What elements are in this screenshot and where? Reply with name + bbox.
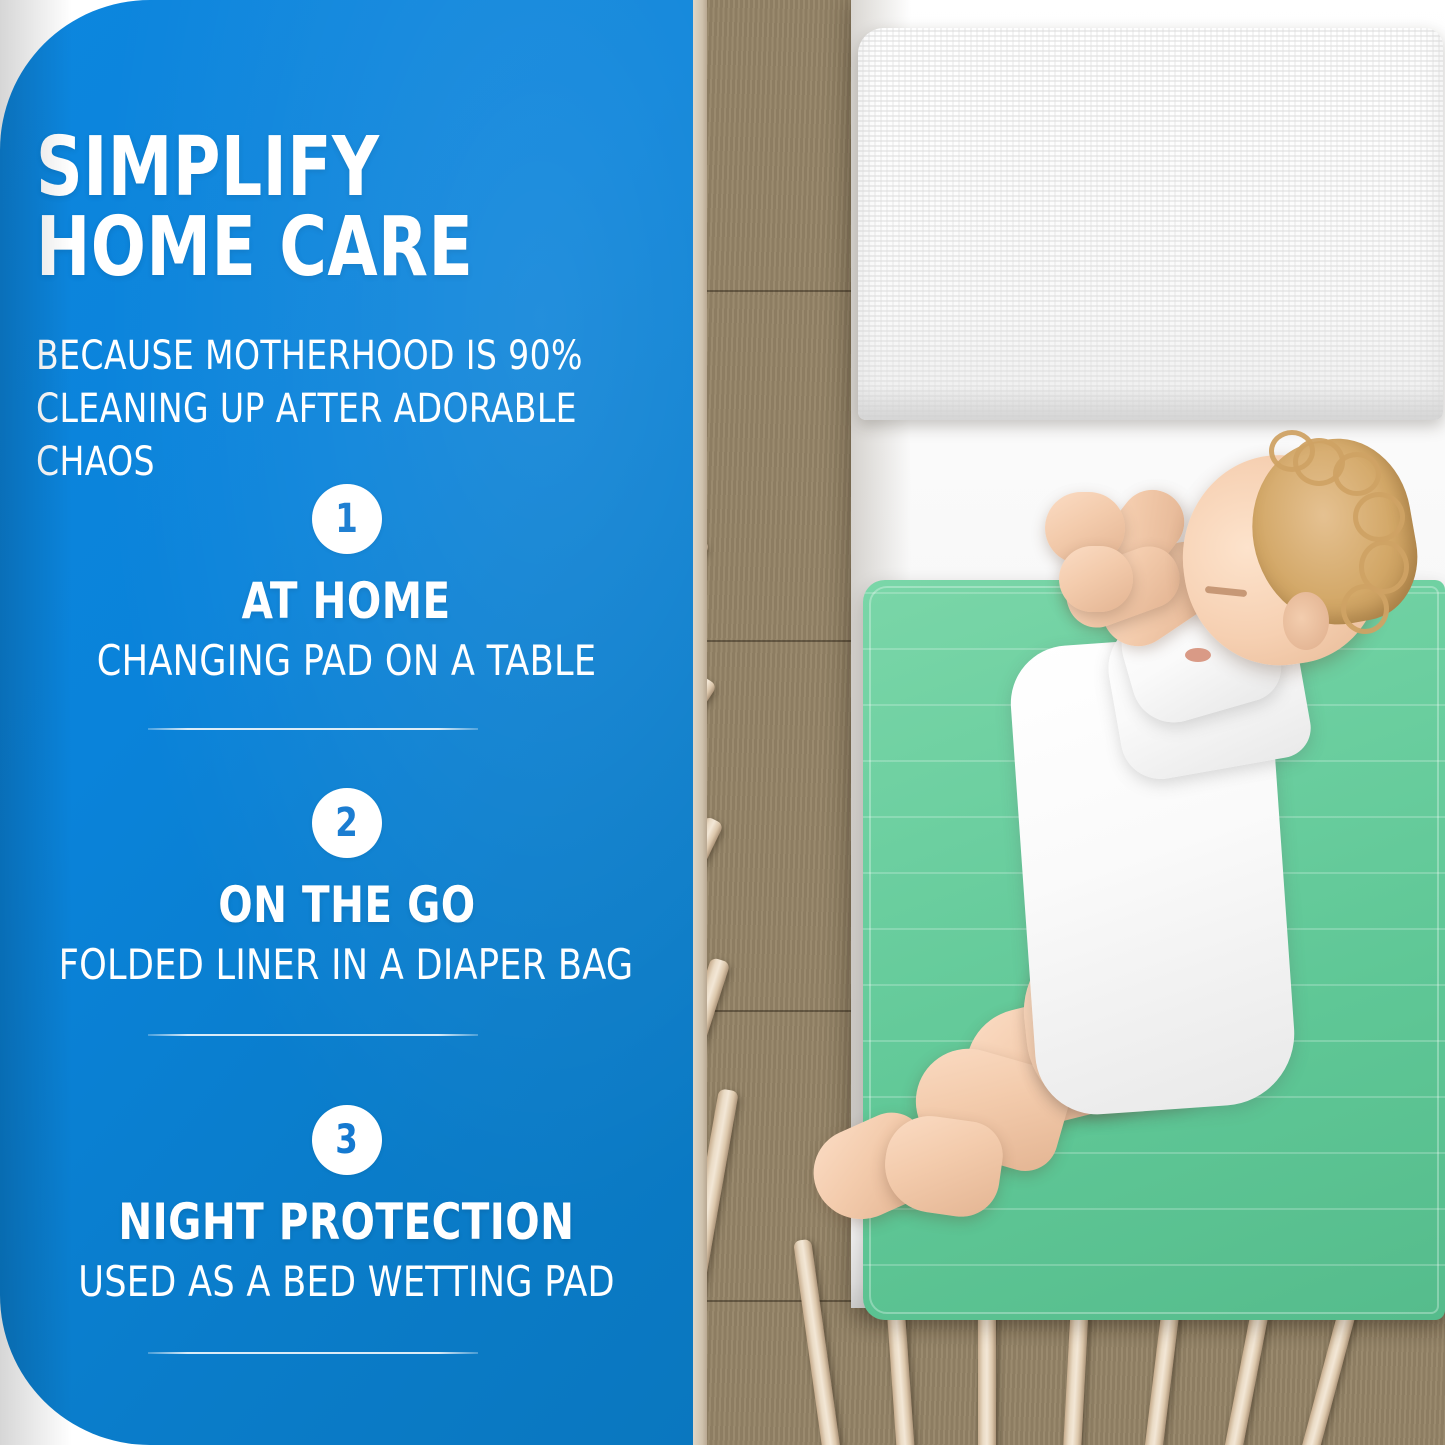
step-title-text-1: AT HOME (242, 576, 451, 626)
step-number-2: 2 (335, 803, 358, 843)
step-subtitle-text-3: USED AS A BED WETTING PAD (78, 1259, 615, 1305)
info-panel: SIMPLIFY HOME CARE BECAUSE MOTHERHOOD IS… (0, 0, 693, 1445)
step-divider-3 (148, 1352, 478, 1354)
product-photo (693, 0, 1445, 1445)
step-number-badge-2: 2 (312, 788, 382, 858)
step-subtitle-1: CHANGING PAD ON A TABLE (0, 638, 693, 684)
step-item-2: 2 ON THE GO FOLDED LINER IN A DIAPER BAG (0, 788, 693, 988)
step-title-1: AT HOME (0, 576, 693, 626)
step-divider-2 (148, 1034, 478, 1036)
photo-left-edge (693, 0, 707, 1445)
page-title: SIMPLIFY HOME CARE (36, 128, 564, 287)
step-title-text-2: ON THE GO (218, 880, 475, 930)
step-item-3: 3 NIGHT PROTECTION USED AS A BED WETTING… (0, 1105, 693, 1305)
step-divider-1 (148, 728, 478, 730)
step-title-text-3: NIGHT PROTECTION (118, 1197, 574, 1247)
step-number-1: 1 (335, 499, 358, 539)
step-subtitle-2: FOLDED LINER IN A DIAPER BAG (0, 942, 693, 988)
baby-mouth (1185, 648, 1211, 662)
step-subtitle-text-1: CHANGING PAD ON A TABLE (97, 638, 597, 684)
page-subtitle: BECAUSE MOTHERHOOD IS 90% CLEANING UP AF… (36, 330, 634, 488)
step-title-2: ON THE GO (0, 880, 693, 930)
poster-root: SIMPLIFY HOME CARE BECAUSE MOTHERHOOD IS… (0, 0, 1445, 1445)
step-subtitle-text-2: FOLDED LINER IN A DIAPER BAG (59, 942, 634, 988)
step-number-badge-1: 1 (312, 484, 382, 554)
step-item-1: 1 AT HOME CHANGING PAD ON A TABLE (0, 484, 693, 684)
step-number-badge-3: 3 (312, 1105, 382, 1175)
step-number-3: 3 (335, 1120, 358, 1160)
step-subtitle-3: USED AS A BED WETTING PAD (0, 1259, 693, 1305)
step-title-3: NIGHT PROTECTION (0, 1197, 693, 1247)
sleeping-baby (693, 0, 1445, 1445)
info-panel-content: SIMPLIFY HOME CARE BECAUSE MOTHERHOOD IS… (0, 0, 693, 1445)
baby-ear (1283, 592, 1329, 650)
